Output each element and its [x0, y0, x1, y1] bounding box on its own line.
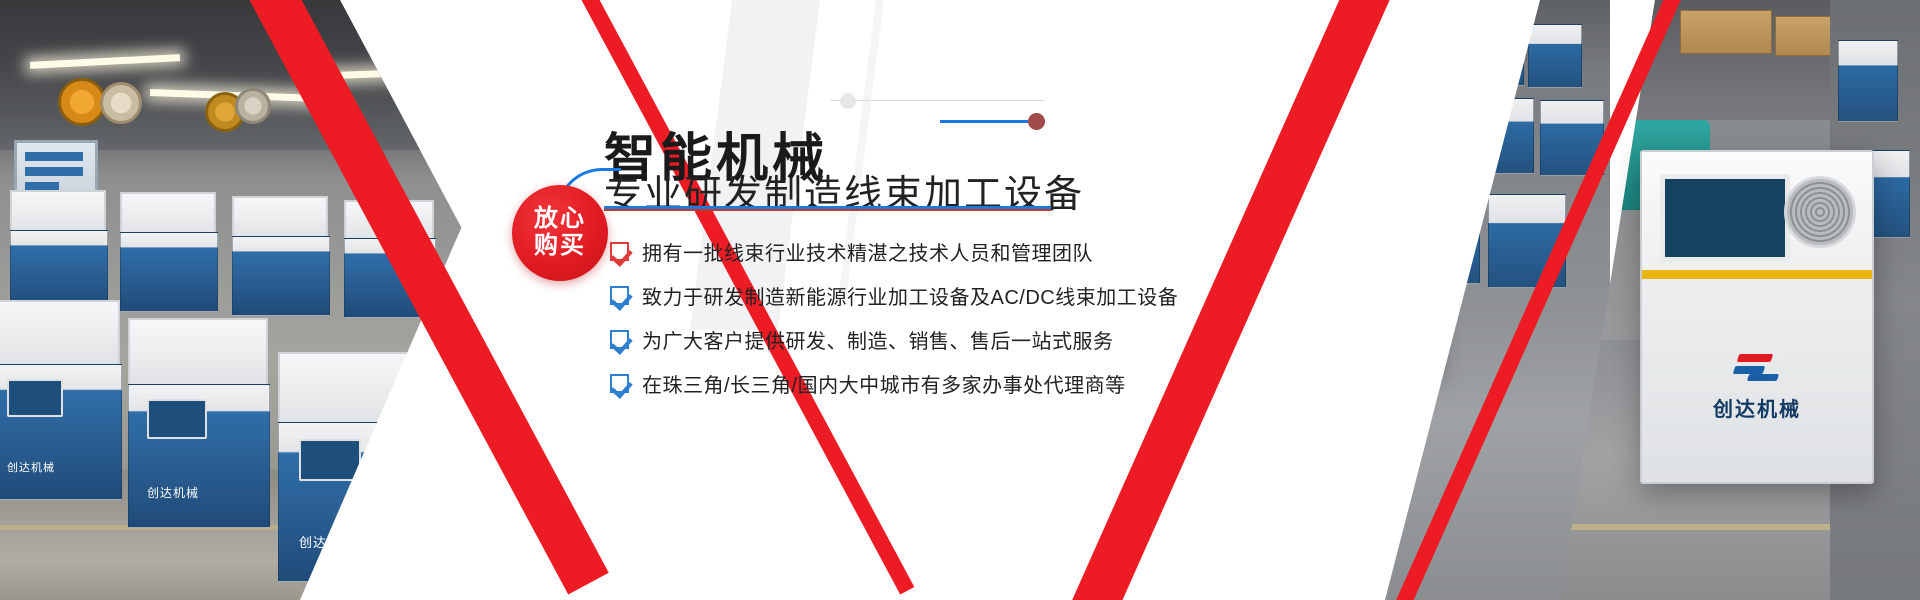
assurance-badge: 放心 购买	[512, 185, 608, 281]
list-item-label: 致力于研发制造新能源行业加工设备及AC/DC线束加工设备	[642, 281, 1178, 310]
feature-list: 拥有一批线束行业技术精湛之技术人员和管理团队 致力于研发制造新能源行业加工设备及…	[610, 233, 1178, 409]
badge-line-2: 购买	[534, 233, 586, 260]
checkbox-icon	[610, 242, 629, 261]
promo-banner: 创达机械 创达机械 创达机械	[0, 0, 1920, 600]
checkbox-icon	[610, 330, 629, 349]
list-item: 在珠三角/长三角/国内大中城市有多家办事处代理商等	[610, 365, 1178, 401]
list-item-label: 为广大客户提供研发、制造、销售、售后一站式服务	[642, 325, 1114, 354]
decor-dot-grey	[840, 93, 856, 109]
list-item: 拥有一批线束行业技术精湛之技术人员和管理团队	[610, 233, 1178, 269]
checkbox-icon	[610, 374, 629, 393]
list-item: 致力于研发制造新能源行业加工设备及AC/DC线束加工设备	[610, 277, 1178, 313]
badge-line-1: 放心	[534, 206, 586, 233]
decor-dot-red	[1028, 113, 1045, 130]
banner-content: 智能机械 专业研发制造线束加工设备 放心 购买 拥有一批线束行业技术精湛之技术人…	[0, 0, 1920, 600]
decor-rail-line	[830, 100, 1045, 101]
checkbox-icon	[610, 286, 629, 305]
list-item-label: 在珠三角/长三角/国内大中城市有多家办事处代理商等	[642, 369, 1126, 398]
divider-red	[604, 209, 1051, 211]
list-item-label: 拥有一批线束行业技术精湛之技术人员和管理团队	[642, 237, 1093, 266]
list-item: 为广大客户提供研发、制造、销售、售后一站式服务	[610, 321, 1178, 357]
